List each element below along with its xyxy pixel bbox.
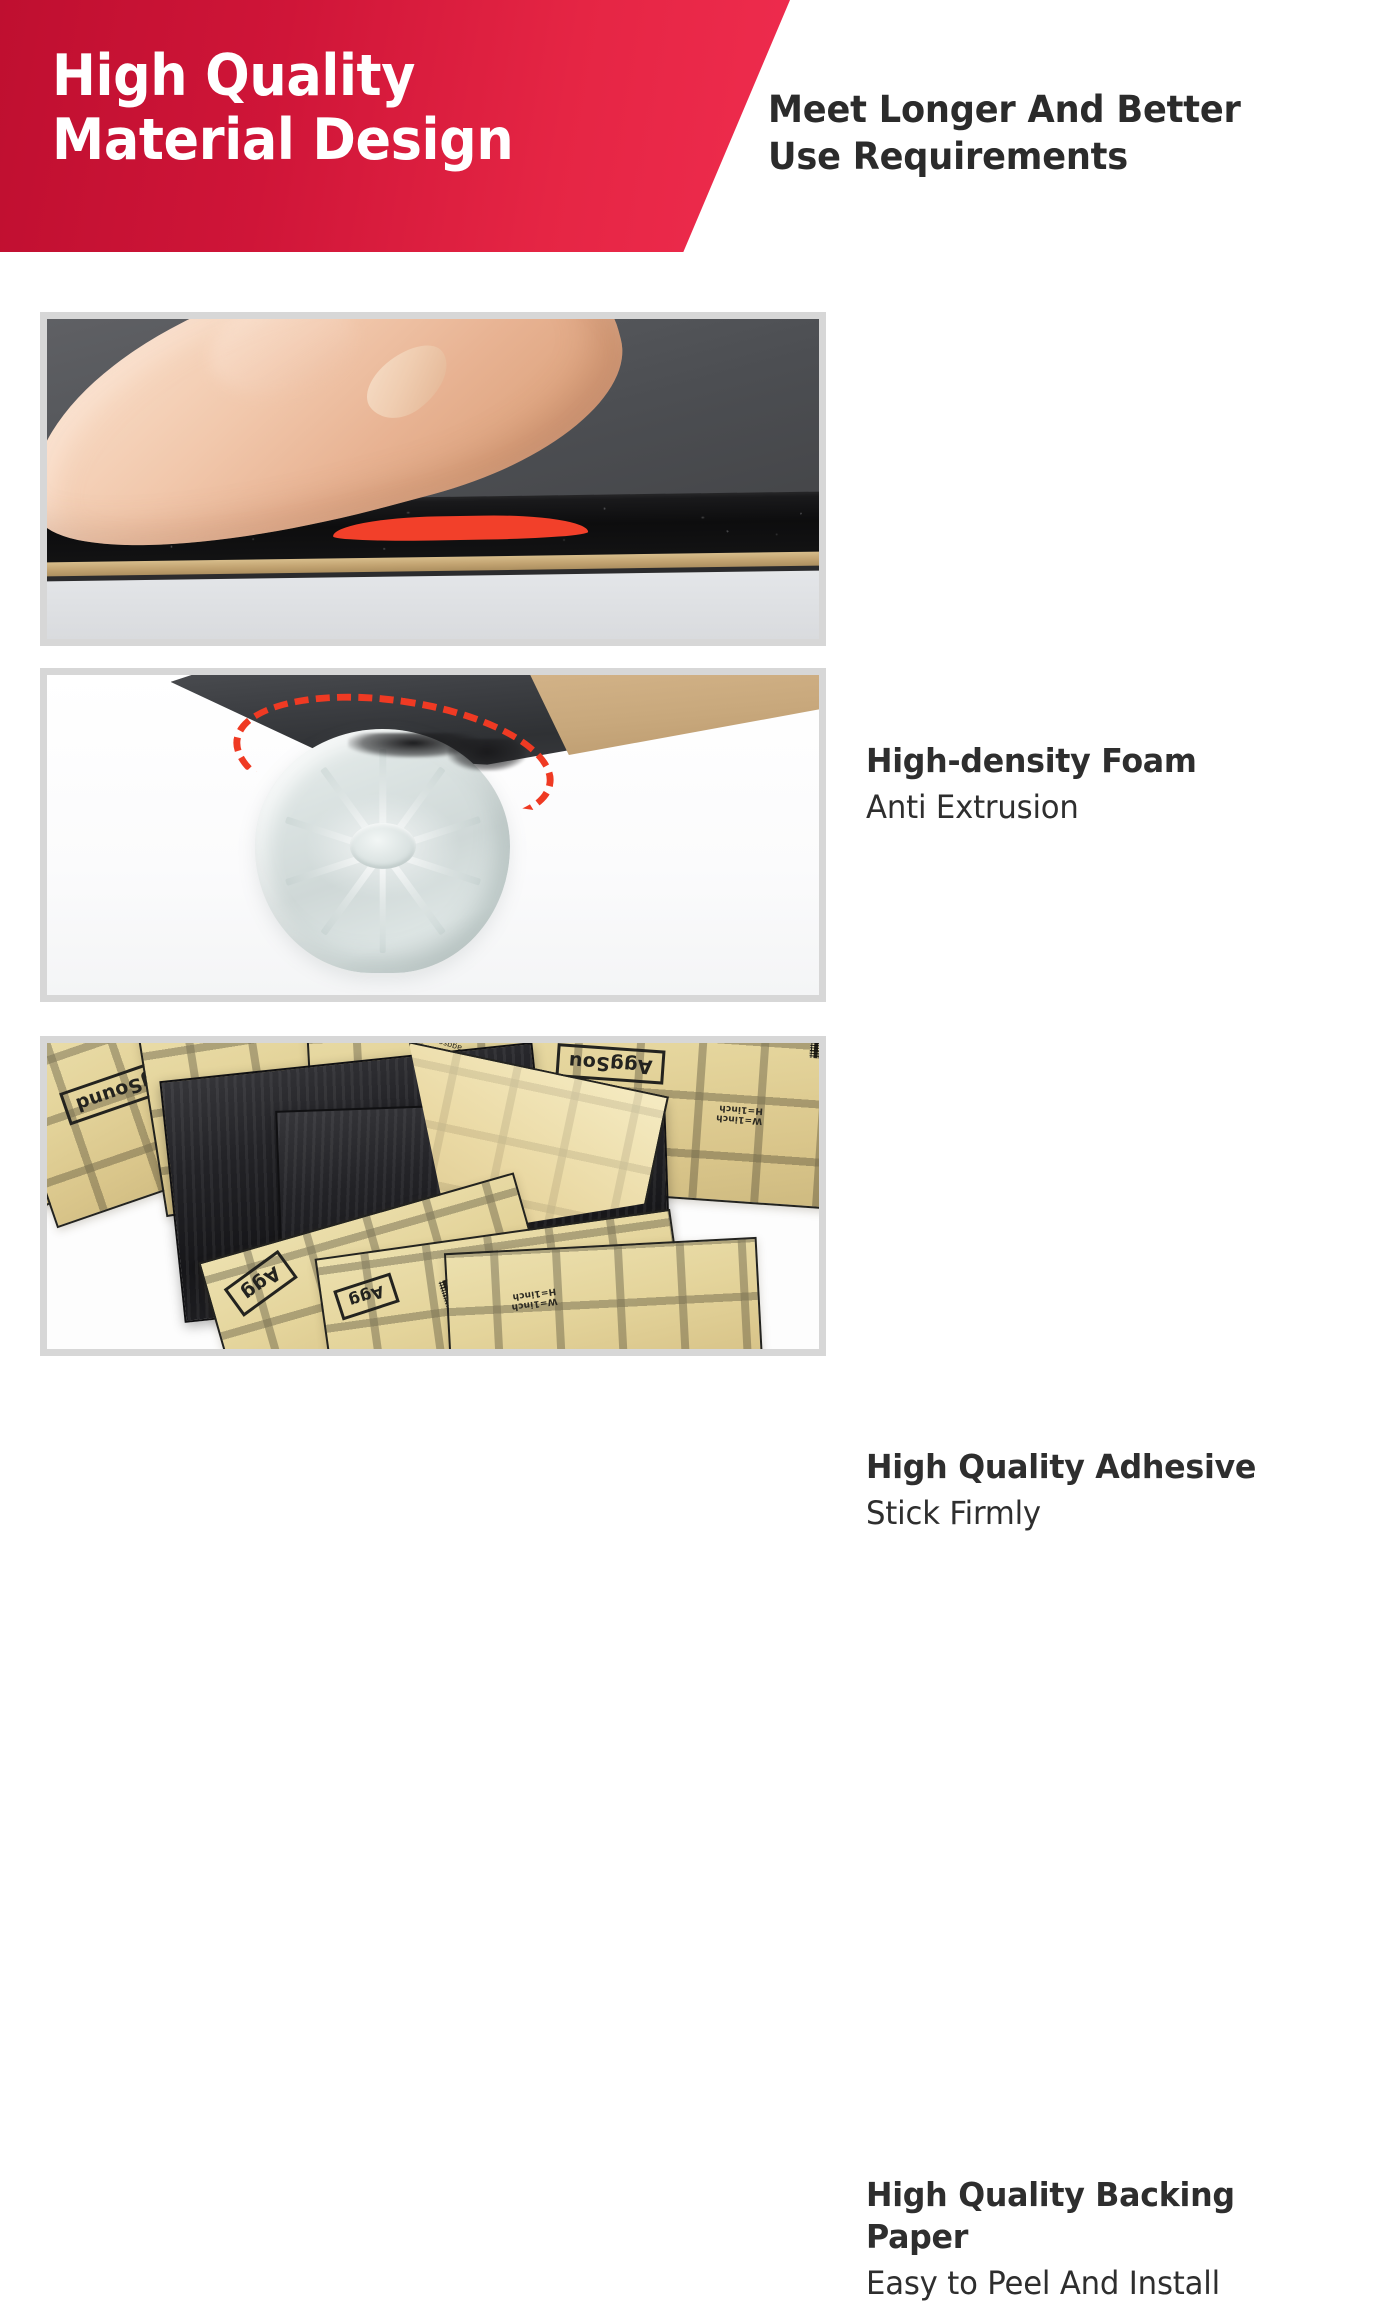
- feature-title: High Quality Backing Paper: [866, 2174, 1379, 2258]
- feature-text-high-quality-backing-paper: High Quality Backing Paper Easy to Peel …: [866, 2174, 1400, 2304]
- inch-grid-lines: [446, 1239, 763, 1349]
- feature-text-high-quality-adhesive: High Quality Adhesive Stick Firmly: [866, 1446, 1400, 1534]
- foot-center-hub: [350, 823, 416, 869]
- header-banner: High Quality Material Design Meet Longer…: [0, 0, 1400, 252]
- feature-image-panel-high-quality-backing-paper: Agg AggSound W=1inch H=1inch aggsound.co…: [40, 1036, 826, 1356]
- feature-image-panel-high-quality-adhesive: [40, 668, 826, 1002]
- header-subtitle: Meet Longer And Better Use Requirements: [768, 86, 1349, 180]
- backing-paper-photo: Agg AggSound W=1inch H=1inch aggsound.co…: [47, 1043, 819, 1349]
- banner-title: High Quality Material Design: [52, 44, 659, 172]
- feature-image-panel-high-density-foam: [40, 312, 826, 646]
- feature-title: High Quality Adhesive: [866, 1446, 1379, 1488]
- feature-row-high-density-foam: High-density Foam Anti Extrusion: [0, 312, 1400, 646]
- feature-subtitle: Stick Firmly: [866, 1492, 1379, 1534]
- feature-row-high-quality-backing-paper: Agg AggSound W=1inch H=1inch aggsound.co…: [0, 1036, 1400, 1356]
- finger-highlight: [199, 319, 364, 410]
- feature-subtitle: Easy to Peel And Install: [866, 2262, 1379, 2304]
- fingernail: [355, 332, 462, 432]
- feature-row-high-quality-adhesive: High Quality Adhesive Stick Firmly: [0, 668, 1400, 1002]
- inch-dimension-label: W=1inch H=1inch: [715, 1102, 763, 1125]
- adhesive-grip-photo: [47, 675, 819, 995]
- foam-press-photo: [47, 319, 819, 639]
- backing-paper-sheet: W=1inch H=1inch: [444, 1237, 765, 1349]
